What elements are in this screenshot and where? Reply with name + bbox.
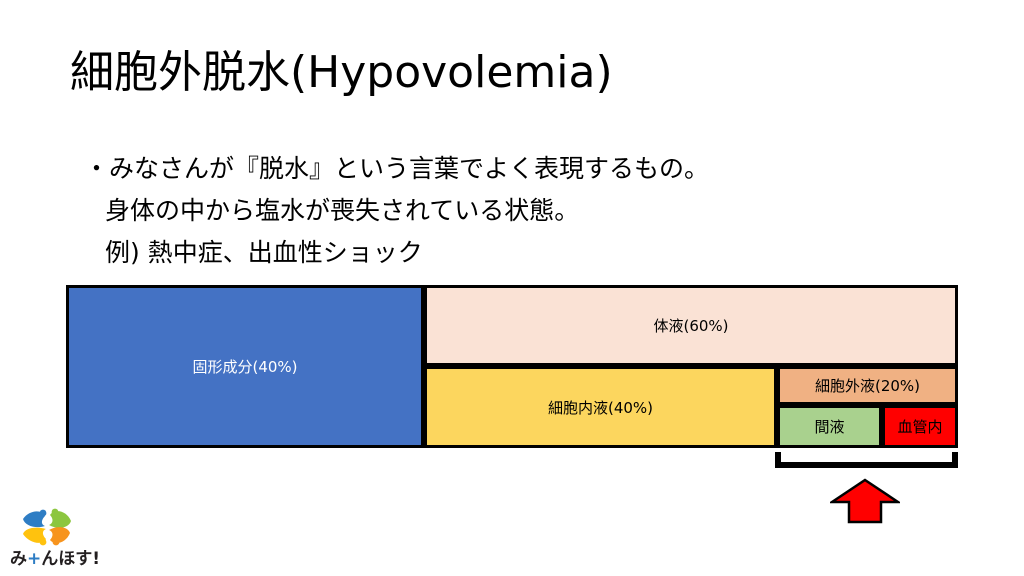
body-line-2: 身体の中から塩水が喪失されている状態。 bbox=[84, 190, 709, 232]
diagram-block-intravascular-fluid: 血管内 bbox=[882, 405, 958, 448]
diagram-block-body-fluid-label: 体液(60%) bbox=[653, 315, 728, 336]
up-arrow-icon bbox=[830, 478, 900, 524]
diagram-block-intravascular-fluid-label: 血管内 bbox=[897, 416, 942, 437]
diagram-block-extracellular-fluid-label: 細胞外液(20%) bbox=[815, 375, 920, 396]
extracellular-bracket bbox=[775, 452, 958, 468]
diagram-block-body-fluid: 体液(60%) bbox=[424, 285, 958, 366]
brand-logo: み+んほす! bbox=[8, 505, 108, 571]
diagram-block-solid-component-label: 固形成分(40%) bbox=[192, 356, 297, 377]
slide-body-text: ・みなさんが『脱水』という言葉でよく表現するもの。 身体の中から塩水が喪失されて… bbox=[84, 148, 709, 274]
logo-wordmark-tail: んほす! bbox=[41, 549, 100, 569]
page-title: 細胞外脱水(Hypovolemia) bbox=[70, 44, 613, 102]
diagram-block-interstitial-fluid-label: 間液 bbox=[814, 416, 844, 437]
diagram-block-intracellular-fluid-label: 細胞内液(40%) bbox=[548, 397, 653, 418]
body-line-1: ・みなさんが『脱水』という言葉でよく表現するもの。 bbox=[84, 148, 709, 190]
diagram-block-interstitial-fluid: 間液 bbox=[777, 405, 882, 448]
logo-plus-icon: + bbox=[27, 549, 41, 569]
body-line-3: 例) 熱中症、出血性ショック bbox=[84, 232, 709, 274]
bracket-span-bar bbox=[775, 462, 958, 468]
pinwheel-logo-icon bbox=[18, 505, 76, 549]
body-fluid-compartment-diagram: 固形成分(40%) 体液(60%) 細胞内液(40%) 細胞外液(20%) 間液… bbox=[66, 285, 958, 448]
logo-wordmark: み+んほす! bbox=[10, 549, 100, 569]
diagram-block-intracellular-fluid: 細胞内液(40%) bbox=[424, 366, 777, 448]
logo-wordmark-head: み bbox=[10, 549, 27, 569]
diagram-block-extracellular-fluid: 細胞外液(20%) bbox=[777, 366, 958, 405]
diagram-block-solid-component: 固形成分(40%) bbox=[66, 285, 424, 448]
